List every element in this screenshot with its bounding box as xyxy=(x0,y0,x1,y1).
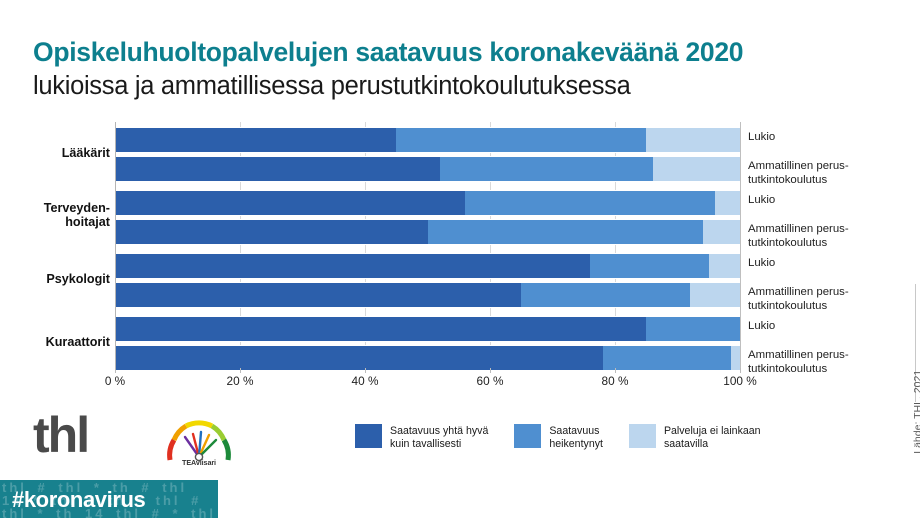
bar-group xyxy=(115,253,740,308)
row-label: Lukio xyxy=(748,194,878,208)
x-tick-label: 20 % xyxy=(227,374,254,388)
bar-segment[interactable] xyxy=(646,127,740,153)
bar-segment[interactable] xyxy=(396,127,646,153)
row-label: Lukio xyxy=(748,257,878,271)
thl-logo: thl xyxy=(33,410,88,460)
legend-label: Saatavuusheikentynyt xyxy=(549,424,603,451)
row-label: Ammatillinen perus-tutkintokoulutus xyxy=(748,160,878,188)
teaviisari-caption: TEAviisari xyxy=(160,458,238,467)
bar-segment[interactable] xyxy=(646,316,740,342)
legend-swatch-icon xyxy=(514,424,541,448)
legend-label: Palveluja ei lainkaansaatavilla xyxy=(664,424,761,451)
bar-segment[interactable] xyxy=(115,316,646,342)
bar-row[interactable] xyxy=(115,316,740,342)
row-label: Ammatillinen perus-tutkintokoulutus xyxy=(748,223,878,251)
bar-segment[interactable] xyxy=(115,190,465,216)
title-subtitle: lukioissa ja ammatillisessa perustutkint… xyxy=(33,71,833,102)
legend-item[interactable]: Saatavuusheikentynyt xyxy=(514,424,603,451)
bar-row[interactable] xyxy=(115,253,740,279)
bar-row[interactable] xyxy=(115,190,740,216)
x-tick-label: 80 % xyxy=(602,374,629,388)
bar-segment[interactable] xyxy=(715,190,740,216)
category-label-1: Terveyden-hoitajat xyxy=(0,201,110,230)
page-title: Opiskeluhuoltopalvelujen saatavuus koron… xyxy=(33,38,833,101)
row-label: Ammatillinen perus-tutkintokoulutus xyxy=(748,286,878,314)
bar-group xyxy=(115,127,740,182)
x-tick-label: 100 % xyxy=(723,374,756,388)
y-axis-line xyxy=(115,122,116,370)
x-tick-mark xyxy=(490,368,491,373)
bar-row[interactable] xyxy=(115,219,740,245)
bar-row[interactable] xyxy=(115,127,740,153)
bar-segment[interactable] xyxy=(115,219,428,245)
row-label: Ammatillinen perus-tutkintokoulutus xyxy=(748,349,878,377)
bar-segment[interactable] xyxy=(115,156,440,182)
bar-segment[interactable] xyxy=(590,253,709,279)
row-series-labels: LukioAmmatillinen perus-tutkintokoulutus… xyxy=(748,122,878,370)
category-label-3: Kuraattorit xyxy=(0,335,110,349)
koronavirus-banner: thl # thl * th # thl 14 * thl # th * thl… xyxy=(0,480,218,518)
x-tick-mark xyxy=(615,368,616,373)
row-label: Lukio xyxy=(748,131,878,145)
x-tick-label: 40 % xyxy=(352,374,379,388)
bar-segment[interactable] xyxy=(428,219,703,245)
bar-segment[interactable] xyxy=(115,282,521,308)
bar-segment[interactable] xyxy=(115,127,396,153)
legend-item[interactable]: Palveluja ei lainkaansaatavilla xyxy=(629,424,761,451)
bar-segment[interactable] xyxy=(603,345,731,371)
legend-label: Saatavuus yhtä hyväkuin tavallisesti xyxy=(390,424,488,451)
x-tick-mark xyxy=(365,368,366,373)
bar-segment[interactable] xyxy=(521,282,690,308)
x-tick-label: 60 % xyxy=(477,374,504,388)
bar-segment[interactable] xyxy=(709,253,740,279)
source-note: Lähde: THL, 2021 xyxy=(912,370,920,454)
chart-plot-area: LääkäritTerveyden-hoitajatPsykologitKura… xyxy=(0,122,920,387)
legend-swatch-icon xyxy=(355,424,382,448)
bar-segment[interactable] xyxy=(115,253,590,279)
bar-segment[interactable] xyxy=(731,345,740,371)
bars-and-gridlines xyxy=(115,122,740,370)
legend-swatch-icon xyxy=(629,424,656,448)
chart-legend: Saatavuus yhtä hyväkuin tavallisestiSaat… xyxy=(355,424,761,451)
bar-segment[interactable] xyxy=(690,282,740,308)
x-tick-mark xyxy=(740,368,741,373)
infographic-canvas: Opiskeluhuoltopalvelujen saatavuus koron… xyxy=(0,0,920,518)
category-label-0: Lääkärit xyxy=(0,146,110,160)
bar-row[interactable] xyxy=(115,282,740,308)
bar-row[interactable] xyxy=(115,156,740,182)
bar-segment[interactable] xyxy=(440,156,653,182)
x-tick-mark xyxy=(240,368,241,373)
bar-row[interactable] xyxy=(115,345,740,371)
bar-group xyxy=(115,316,740,371)
banner-hashtag: #koronavirus xyxy=(12,487,145,513)
title-main: Opiskeluhuoltopalvelujen saatavuus koron… xyxy=(33,38,833,68)
x-axis: 0 %20 %40 %60 %80 %100 % xyxy=(115,374,740,398)
category-label-2: Psykologit xyxy=(0,272,110,286)
category-axis-labels: LääkäritTerveyden-hoitajatPsykologitKura… xyxy=(0,122,110,370)
gridline-100 xyxy=(740,122,741,370)
bar-segment[interactable] xyxy=(653,156,741,182)
bar-group xyxy=(115,190,740,245)
bar-segment[interactable] xyxy=(115,345,603,371)
bar-segment[interactable] xyxy=(703,219,741,245)
legend-item[interactable]: Saatavuus yhtä hyväkuin tavallisesti xyxy=(355,424,488,451)
bar-segment[interactable] xyxy=(465,190,715,216)
x-tick-label: 0 % xyxy=(105,374,125,388)
row-label: Lukio xyxy=(748,320,878,334)
